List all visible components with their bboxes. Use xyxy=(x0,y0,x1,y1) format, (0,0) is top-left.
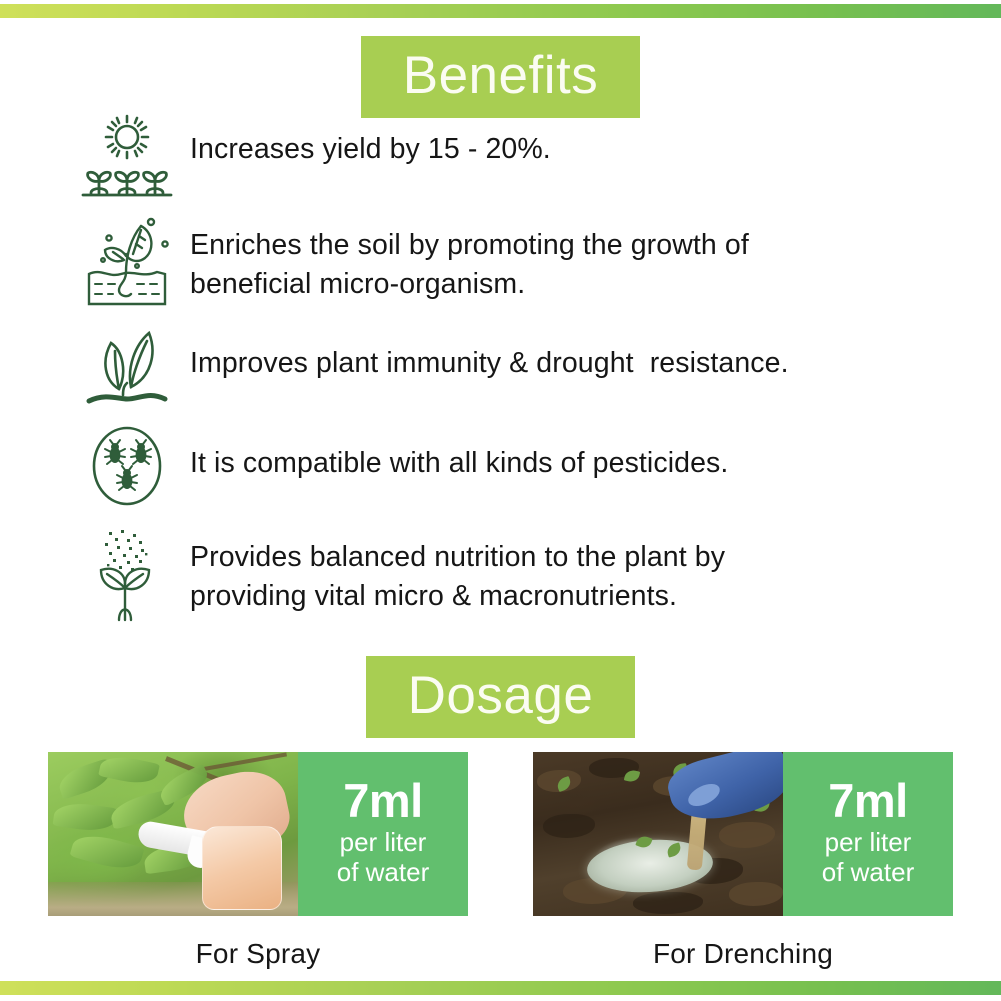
dosage-caption: For Spray xyxy=(48,938,468,970)
plant-in-soil-icon xyxy=(74,214,180,310)
nutrient-sprinkle-plant-icon xyxy=(74,524,180,628)
dosage-amount: 7ml xyxy=(828,777,908,824)
watering-can-drenching-soil-photo xyxy=(533,752,783,916)
benefit-item: Increases yield by 15 - 20%. xyxy=(74,108,954,200)
dosage-unit-line-2: of water xyxy=(337,857,430,887)
benefits-heading-badge: Benefits xyxy=(361,36,641,118)
dosage-card-body: 7ml per liter of water xyxy=(533,752,953,916)
benefit-text: It is compatible with all kinds of pesti… xyxy=(180,422,728,483)
dosage-unit: per liter of water xyxy=(822,828,915,886)
insects-in-circle-icon xyxy=(74,422,180,510)
dosage-card-body: 7ml per liter of water xyxy=(48,752,468,916)
benefit-item: Provides balanced nutrition to the plant… xyxy=(74,524,954,628)
dosage-unit-line-1: per liter xyxy=(825,827,912,857)
dosage-unit: per liter of water xyxy=(337,828,430,886)
benefit-text: Enriches the soil by promoting the growt… xyxy=(180,214,749,305)
dosage-cards: 7ml per liter of water For Spray xyxy=(48,752,953,970)
sun-over-seedlings-icon xyxy=(74,108,180,200)
dosage-unit-line-2: of water xyxy=(822,857,915,887)
bottom-border-strip xyxy=(0,981,1001,995)
dosage-unit-line-1: per liter xyxy=(340,827,427,857)
dosage-card-spray: 7ml per liter of water For Spray xyxy=(48,752,468,970)
benefit-item: It is compatible with all kinds of pesti… xyxy=(74,422,954,510)
dosage-heading: Dosage xyxy=(0,656,1001,738)
dosage-card-drenching: 7ml per liter of water For Drenching xyxy=(533,752,953,970)
benefits-list: Increases yield by 15 - 20%. xyxy=(74,108,954,642)
two-leaves-icon xyxy=(74,324,180,408)
top-border-strip xyxy=(0,4,1001,18)
benefit-text: Increases yield by 15 - 20%. xyxy=(180,108,551,169)
dosage-heading-badge: Dosage xyxy=(366,656,636,738)
dosage-caption: For Drenching xyxy=(533,938,953,970)
benefit-text: Provides balanced nutrition to the plant… xyxy=(180,524,725,617)
dosage-amount: 7ml xyxy=(343,777,423,824)
benefits-heading: Benefits xyxy=(0,36,1001,118)
benefit-item: Enriches the soil by promoting the growt… xyxy=(74,214,954,310)
dosage-amount-panel: 7ml per liter of water xyxy=(298,752,468,916)
hand-spraying-plants-photo xyxy=(48,752,298,916)
dosage-amount-panel: 7ml per liter of water xyxy=(783,752,953,916)
benefit-text: Improves plant immunity & drought resist… xyxy=(180,324,789,383)
benefit-item: Improves plant immunity & drought resist… xyxy=(74,324,954,408)
